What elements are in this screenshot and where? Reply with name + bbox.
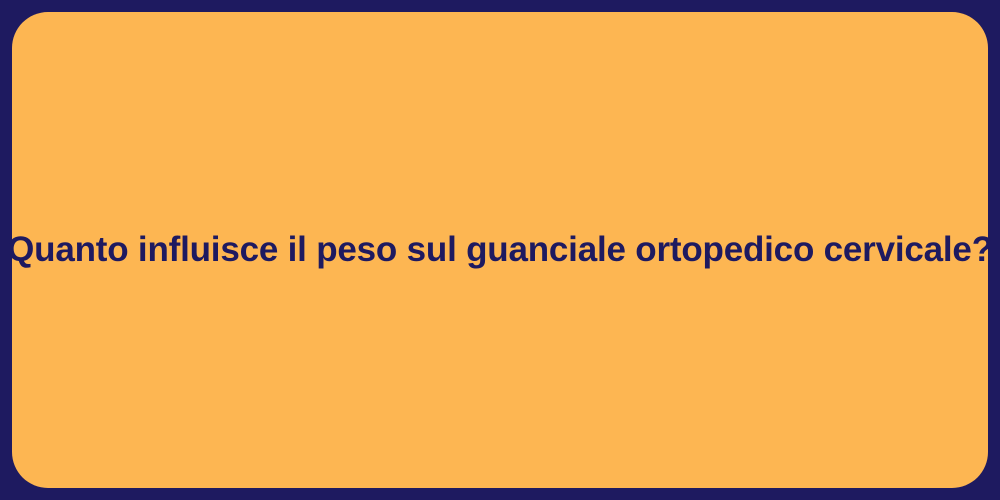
- card-frame: Quanto influisce il peso sul guanciale o…: [0, 0, 1000, 500]
- page-title: Quanto influisce il peso sul guanciale o…: [0, 228, 1000, 272]
- card-panel: Quanto influisce il peso sul guanciale o…: [12, 12, 988, 488]
